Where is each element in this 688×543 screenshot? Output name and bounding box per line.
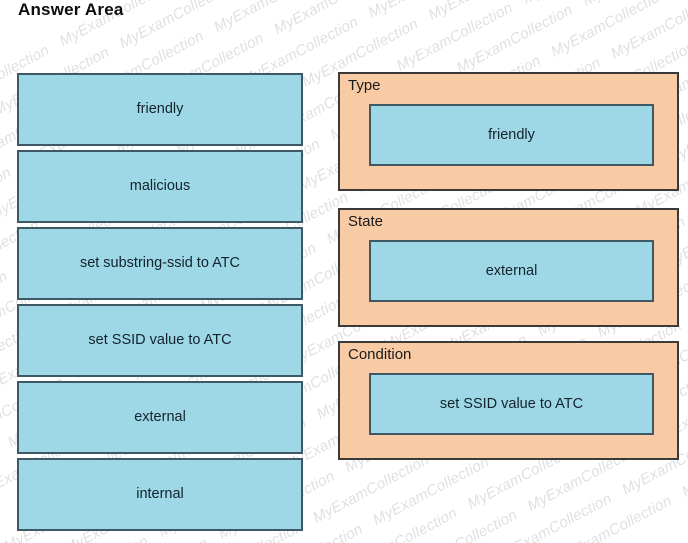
draggable-option-set-ssid-value-to-atc[interactable]: set SSID value to ATC [17,304,303,377]
draggable-option-external[interactable]: external [17,381,303,454]
dropped-answer-label: external [486,263,538,280]
drop-zone-type[interactable]: Type friendly [338,72,679,191]
drop-zone-state[interactable]: State external [338,208,679,327]
drop-zone-label: Condition [348,347,411,364]
page-title: Answer Area [18,0,124,20]
draggable-option-friendly[interactable]: friendly [17,73,303,146]
draggable-option-malicious[interactable]: malicious [17,150,303,223]
draggable-option-label: external [134,409,186,426]
drop-zone-condition[interactable]: Condition set SSID value to ATC [338,341,679,460]
draggable-option-label: set substring-ssid to ATC [80,255,240,272]
draggable-option-internal[interactable]: internal [17,458,303,531]
dropped-answer-label: friendly [488,127,535,144]
dropped-answer-condition[interactable]: set SSID value to ATC [369,373,654,435]
exam-question-screenshot: MyExamCollectionMyExamCollectionMyExamCo… [0,0,688,543]
drop-zone-label: State [348,214,383,231]
draggable-option-label: set SSID value to ATC [88,332,231,349]
drop-zone-label: Type [348,78,381,95]
dropped-answer-label: set SSID value to ATC [440,396,583,413]
draggable-option-label: friendly [137,101,184,118]
draggable-option-label: malicious [130,178,190,195]
dropped-answer-type[interactable]: friendly [369,104,654,166]
draggable-option-set-substring-ssid-to-atc[interactable]: set substring-ssid to ATC [17,227,303,300]
draggable-option-label: internal [136,486,184,503]
dropped-answer-state[interactable]: external [369,240,654,302]
